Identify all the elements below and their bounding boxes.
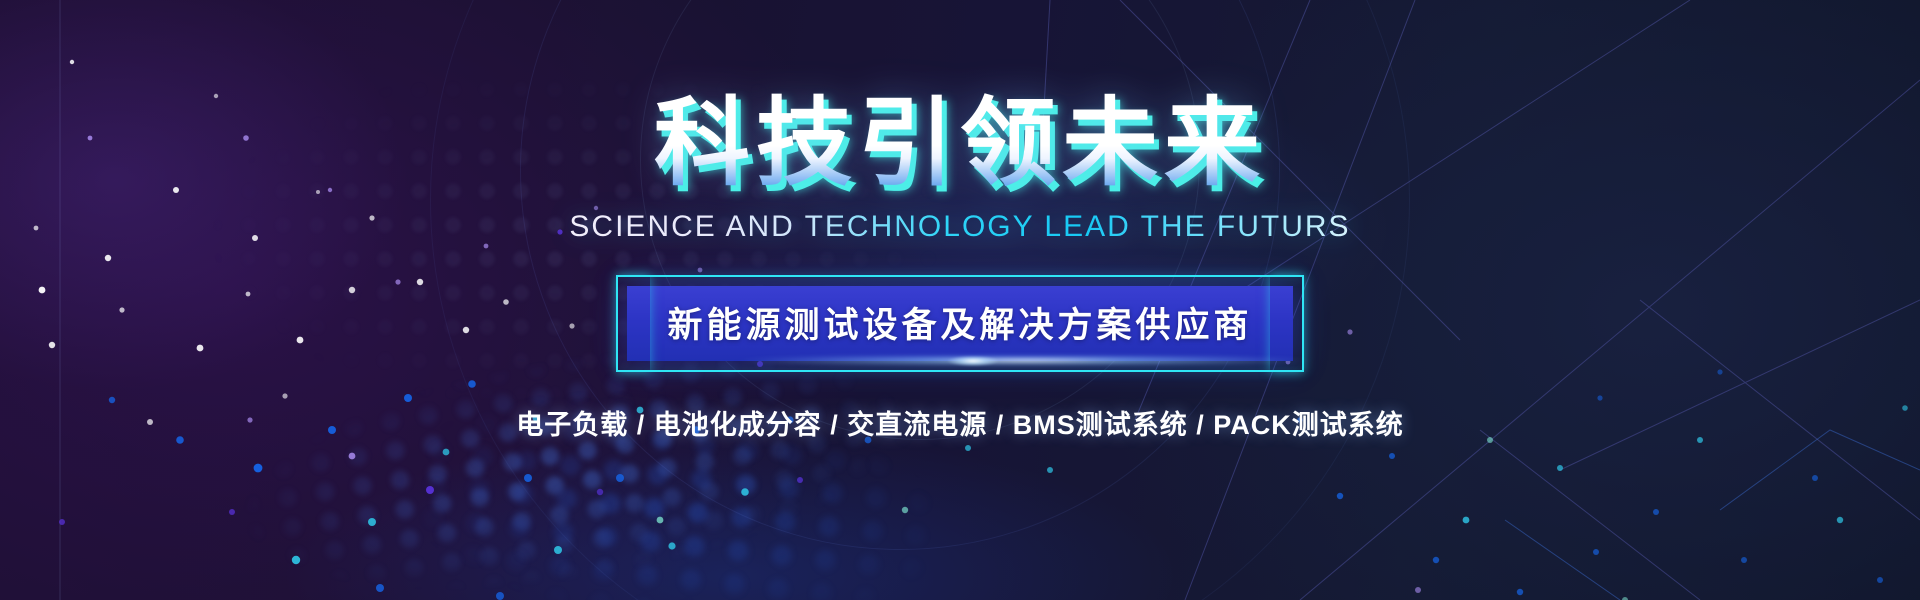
product-list: 电子负载 / 电池化成分容 / 交直流电源 / BMS测试系统 / PACK测试… <box>516 403 1404 442</box>
bracket-top-icon <box>616 275 1303 277</box>
page-title: 科技引领未来 科技引领未来 <box>654 96 1266 192</box>
page-title-text: 科技引领未来 <box>654 90 1266 197</box>
subtitle-bar-wrapper: 新能源测试设备及解决方案供应商 <box>627 286 1292 361</box>
subtitle-bar: 新能源测试设备及解决方案供应商 <box>627 286 1292 361</box>
english-tagline: SCIENCE AND TECHNOLOGY LEAD THE FUTURS <box>569 210 1350 244</box>
bar-spark-icon <box>938 354 1008 368</box>
bracket-bottom-icon <box>616 370 1303 372</box>
banner-content: 科技引领未来 科技引领未来 SCIENCE AND TECHNOLOGY LEA… <box>0 0 1920 600</box>
hero-banner: 科技引领未来 科技引领未来 SCIENCE AND TECHNOLOGY LEA… <box>0 0 1920 600</box>
subtitle-bar-text: 新能源测试设备及解决方案供应商 <box>667 297 1252 348</box>
